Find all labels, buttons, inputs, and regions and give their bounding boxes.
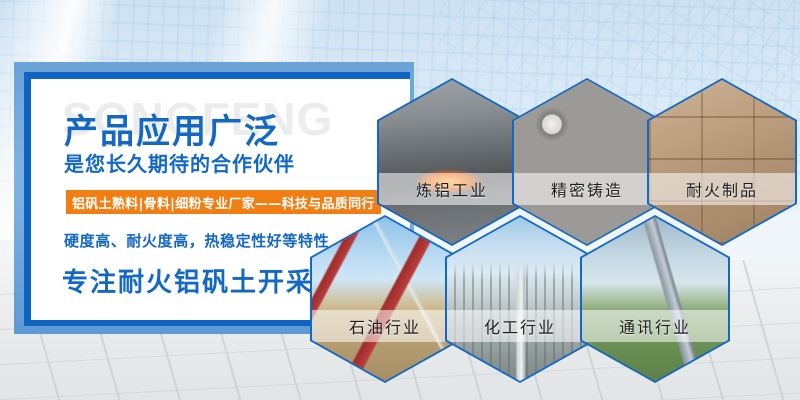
hex-label-chemical: 化工行业 — [447, 310, 593, 342]
precision-casting-cylinders-image — [514, 80, 660, 244]
chemical-plant-image — [447, 217, 593, 381]
hexagon-grid: 炼铝工业 精密铸造 耐火制品 石油行业 化工行业 — [0, 0, 800, 400]
hex-label-refractory: 耐火制品 — [649, 173, 795, 205]
hex-tile-smelting[interactable]: 炼铝工业 — [377, 78, 527, 246]
hex-inner: 化工行业 — [447, 217, 593, 381]
telecom-solar-tower-image — [582, 217, 728, 381]
hex-inner: 耐火制品 — [649, 80, 795, 244]
hex-inner: 石油行业 — [312, 217, 458, 381]
hex-inner: 通讯行业 — [582, 217, 728, 381]
hex-tile-casting[interactable]: 精密铸造 — [512, 78, 662, 246]
hex-tile-oil[interactable]: 石油行业 — [310, 215, 460, 383]
hex-tile-chemical[interactable]: 化工行业 — [445, 215, 595, 383]
hex-label-oil: 石油行业 — [312, 310, 458, 342]
hex-inner: 精密铸造 — [514, 80, 660, 244]
hex-tile-telecom[interactable]: 通讯行业 — [580, 215, 730, 383]
hex-label-casting: 精密铸造 — [514, 173, 660, 205]
hex-tile-refractory[interactable]: 耐火制品 — [647, 78, 797, 246]
hex-inner: 炼铝工业 — [379, 80, 525, 244]
banner-stage: SONGFENG 产品应用广泛 是您长久期待的合作伙伴 铝矾土熟料|骨料|细粉专… — [0, 0, 800, 400]
oil-pumpjacks-image — [312, 217, 458, 381]
hex-label-smelting: 炼铝工业 — [379, 173, 525, 205]
refractory-bricks-stack-image — [649, 80, 795, 244]
hex-label-telecom: 通讯行业 — [582, 310, 728, 342]
aluminum-smelting-furnace-image — [379, 80, 525, 244]
